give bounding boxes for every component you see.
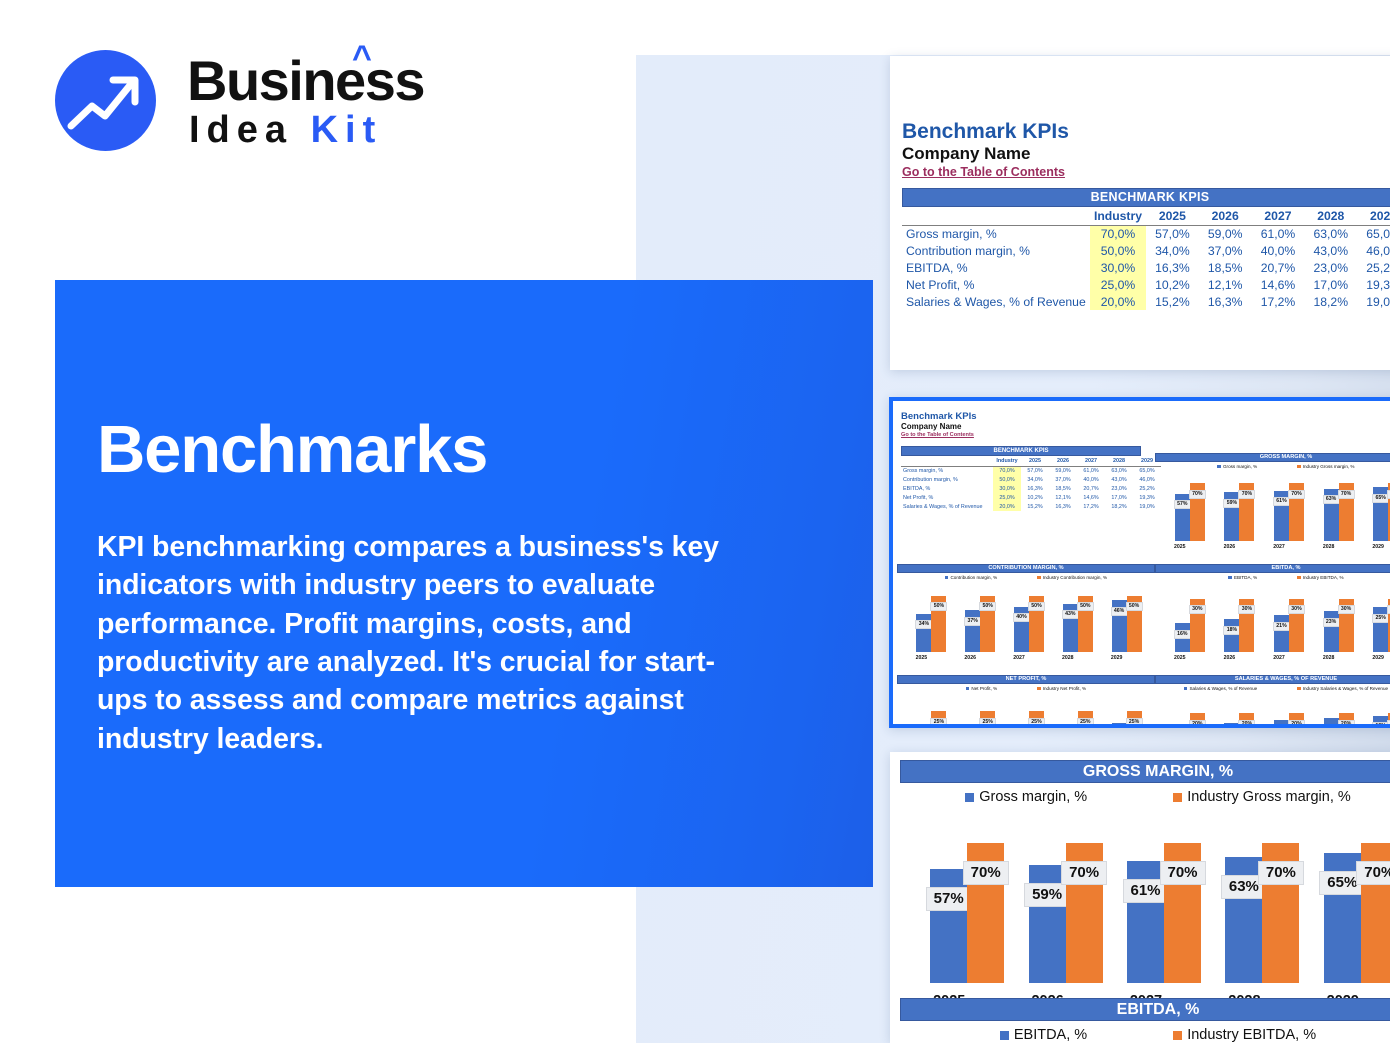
kpi-header-2028: 2028 bbox=[1105, 457, 1133, 466]
chart-title-band: EBITDA, % bbox=[900, 998, 1390, 1021]
x-axis-label: 2029 bbox=[1353, 544, 1390, 550]
legend-item[interactable]: Salaries & Wages, % of Revenue bbox=[1184, 686, 1257, 691]
x-axis-label: 2028 bbox=[1304, 544, 1354, 550]
kpi-year-value[interactable]: 46,0% bbox=[1357, 242, 1390, 259]
chart-gross-margin-mini[interactable]: GROSS MARGIN, %Gross margin, %Industry G… bbox=[1155, 453, 1390, 571]
kpi-row-label: Gross margin, % bbox=[902, 225, 1090, 242]
x-axis-label: 2027 bbox=[1254, 655, 1304, 661]
legend-label: Gross margin, % bbox=[1223, 464, 1257, 469]
table-row: Gross margin, %70,0%57,0%59,0%61,0%63,0%… bbox=[902, 225, 1390, 242]
kpi-year-value[interactable]: 63,0% bbox=[1304, 225, 1357, 242]
kpi-industry-value[interactable]: 50,0% bbox=[1090, 242, 1146, 259]
bar-data-label: 20% bbox=[1338, 720, 1355, 728]
bar-data-label: 30% bbox=[1238, 605, 1255, 614]
bar-data-label: 59% bbox=[1024, 883, 1070, 907]
sheet-preview-bottom[interactable]: GROSS MARGIN, %Gross margin, %Industry G… bbox=[890, 752, 1390, 1043]
kpi-year-value[interactable]: 18,2% bbox=[1105, 502, 1133, 511]
kpi-header-2029: 2029 bbox=[1357, 208, 1390, 225]
legend-label: EBITDA, % bbox=[1234, 575, 1257, 580]
kpi-year-value[interactable]: 23,0% bbox=[1105, 484, 1133, 493]
table-row: Contribution margin, %50,0%34,0%37,0%40,… bbox=[902, 242, 1390, 259]
bar-company[interactable] bbox=[1112, 723, 1127, 728]
chart-title-band: SALARIES & WAGES, % OF REVENUE bbox=[1155, 675, 1390, 684]
kpi-year-value[interactable]: 40,0% bbox=[1252, 242, 1305, 259]
chart-legend: EBITDA, %Industry EBITDA, % bbox=[1155, 575, 1390, 580]
kpi-year-value[interactable]: 18,5% bbox=[1199, 259, 1252, 276]
legend-swatch-company-icon bbox=[1184, 687, 1188, 691]
kpi-year-value[interactable]: 20,7% bbox=[1252, 259, 1305, 276]
bar-data-label: 50% bbox=[1077, 602, 1094, 611]
legend-label: Industry Contribution margin, % bbox=[1043, 575, 1107, 580]
legend-item[interactable]: Net Profit, % bbox=[966, 686, 997, 691]
sheet-preview-middle[interactable]: Benchmark KPIs Company Name Go to the Ta… bbox=[889, 397, 1390, 728]
toc-link[interactable]: Go to the Table of Contents bbox=[901, 432, 974, 438]
sheet-company-name: Company Name bbox=[901, 422, 961, 431]
bar-company[interactable] bbox=[1175, 725, 1190, 728]
chart-plot-area: 16%30%18%30%21%30%23%30%25%30% bbox=[1165, 590, 1390, 652]
kpi-row-label: Salaries & Wages, % of Revenue bbox=[902, 293, 1090, 310]
hero-panel: Benchmarks KPI benchmarking compares a b… bbox=[55, 280, 873, 887]
kpi-year-value[interactable]: 17,2% bbox=[1077, 502, 1105, 511]
kpi-header-row: Industry20252026202720282029 bbox=[901, 457, 1161, 466]
kpi-year-value[interactable]: 59,0% bbox=[1199, 225, 1252, 242]
chart-salaries-wages-mini[interactable]: SALARIES & WAGES, % OF REVENUESalaries &… bbox=[1155, 675, 1390, 728]
kpi-year-value[interactable]: 61,0% bbox=[1077, 466, 1105, 475]
kpi-year-value[interactable]: 43,0% bbox=[1105, 475, 1133, 484]
kpi-table: Industry20252026202720282029Gross margin… bbox=[902, 208, 1390, 310]
legend-item[interactable]: Industry EBITDA, % bbox=[1173, 1027, 1316, 1043]
legend-swatch-industry-icon bbox=[1297, 576, 1301, 580]
legend-label: Contribution margin, % bbox=[950, 575, 997, 580]
kpi-header-industry: Industry bbox=[1090, 208, 1146, 225]
bar-company[interactable] bbox=[1324, 718, 1339, 728]
chart-legend: Salaries & Wages, % of RevenueIndustry S… bbox=[1155, 686, 1390, 691]
x-axis-label: 2025 bbox=[1155, 655, 1205, 661]
bar-data-label: 20% bbox=[1288, 720, 1305, 728]
bar-data-label: 25% bbox=[1028, 718, 1045, 727]
kpi-header-2025: 2025 bbox=[1146, 208, 1199, 225]
kpi-year-value[interactable]: 20,7% bbox=[1077, 484, 1105, 493]
bar-data-label: 20% bbox=[1238, 720, 1255, 728]
kpi-header-2027: 2027 bbox=[1077, 457, 1105, 466]
legend-swatch-industry-icon bbox=[1297, 465, 1301, 469]
x-axis-label: 2028 bbox=[1304, 655, 1354, 661]
kpi-header-2026: 2026 bbox=[1199, 208, 1252, 225]
legend-label: Industry Salaries & Wages, % of Revenue bbox=[1303, 686, 1388, 691]
legend-item[interactable]: Contribution margin, % bbox=[945, 575, 997, 580]
bar-data-label: 70% bbox=[1288, 490, 1305, 499]
bar-data-label: 50% bbox=[1028, 602, 1045, 611]
chart-ebitda-large[interactable]: EBITDA, %EBITDA, %Industry EBITDA, %16%3… bbox=[900, 998, 1390, 1043]
kpi-year-value[interactable]: 65,0% bbox=[1357, 225, 1390, 242]
brand-word-ideakit: Idea Kit bbox=[189, 111, 382, 149]
kpi-header-blank bbox=[901, 457, 993, 466]
bar-data-label: 34% bbox=[915, 620, 932, 629]
kpi-year-value[interactable]: 10,2% bbox=[1146, 276, 1199, 293]
sheet-title: Benchmark KPIs bbox=[902, 120, 1069, 144]
kpi-year-value[interactable]: 57,0% bbox=[1146, 225, 1199, 242]
kpi-header-2026: 2026 bbox=[1049, 457, 1077, 466]
bar-data-label: 30% bbox=[1288, 605, 1305, 614]
legend-item[interactable]: Industry EBITDA, % bbox=[1297, 575, 1343, 580]
legend-item[interactable]: Industry Gross margin, % bbox=[1173, 789, 1351, 805]
x-axis-label: 2027 bbox=[1254, 544, 1304, 550]
bar-data-label: 18% bbox=[1323, 724, 1340, 728]
chart-legend: Gross margin, %Industry Gross margin, % bbox=[900, 789, 1390, 805]
kpi-row-label: Gross margin, % bbox=[901, 466, 993, 475]
kpi-row-label: Net Profit, % bbox=[901, 493, 993, 502]
bar-data-label: 70% bbox=[1258, 861, 1304, 885]
bar-data-label: 20% bbox=[1189, 720, 1206, 728]
kpi-year-value[interactable]: 40,0% bbox=[1077, 475, 1105, 484]
kpi-header-blank bbox=[902, 208, 1090, 225]
kpi-industry-value[interactable]: 70,0% bbox=[993, 466, 1021, 475]
legend-swatch-industry-icon bbox=[1173, 1031, 1182, 1040]
kpi-row-label: Contribution margin, % bbox=[901, 475, 993, 484]
chart-title-band: GROSS MARGIN, % bbox=[900, 760, 1390, 783]
kpi-year-value[interactable]: 12,1% bbox=[1049, 493, 1077, 502]
legend-swatch-company-icon bbox=[966, 687, 970, 691]
chart-legend: Contribution margin, %Industry Contribut… bbox=[897, 575, 1155, 580]
kpi-year-value[interactable]: 18,2% bbox=[1304, 293, 1357, 310]
bar-data-label: 50% bbox=[979, 602, 996, 611]
legend-swatch-company-icon bbox=[965, 793, 974, 802]
legend-swatch-company-icon bbox=[1217, 465, 1221, 469]
toc-link[interactable]: Go to the Table of Contents bbox=[902, 165, 1065, 179]
bar-company[interactable] bbox=[1224, 723, 1239, 728]
x-axis-label: 2028 bbox=[1043, 655, 1092, 661]
sheet-middle-inner: Benchmark KPIs Company Name Go to the Ta… bbox=[893, 401, 1390, 724]
kpi-year-value[interactable]: 17,0% bbox=[1304, 276, 1357, 293]
chart-title-band: NET PROFIT, % bbox=[897, 675, 1155, 684]
legend-item[interactable]: Industry Contribution margin, % bbox=[1037, 575, 1107, 580]
kpi-row-label: Net Profit, % bbox=[902, 276, 1090, 293]
bar-data-label: 30% bbox=[1189, 605, 1206, 614]
bar-data-label: 40% bbox=[1013, 613, 1030, 622]
brand-logo: Business ^ Idea Kit bbox=[55, 47, 455, 162]
legend-item[interactable]: Industry Salaries & Wages, % of Revenue bbox=[1297, 686, 1388, 691]
kpi-header-industry: Industry bbox=[993, 457, 1021, 466]
legend-item[interactable]: Gross margin, % bbox=[965, 789, 1087, 805]
kpi-year-value[interactable]: 16,3% bbox=[1049, 502, 1077, 511]
legend-swatch-company-icon bbox=[1228, 576, 1232, 580]
table-row: EBITDA, %30,0%16,3%18,5%20,7%23,0%25,2% bbox=[901, 484, 1161, 493]
kpi-year-value[interactable]: 16,3% bbox=[1146, 259, 1199, 276]
bar-data-label: 59% bbox=[1223, 499, 1240, 508]
table-row: Contribution margin, %50,0%34,0%37,0%40,… bbox=[901, 475, 1161, 484]
bar-data-label: 50% bbox=[1126, 602, 1143, 611]
chart-contribution-margin-mini[interactable]: CONTRIBUTION MARGIN, %Contribution margi… bbox=[897, 564, 1155, 682]
kpi-industry-value[interactable]: 50,0% bbox=[993, 475, 1021, 484]
hero-description: KPI benchmarking compares a business's k… bbox=[97, 528, 762, 758]
bar-company[interactable] bbox=[1224, 619, 1239, 652]
kpi-industry-value[interactable]: 70,0% bbox=[1090, 225, 1146, 242]
kpi-header-2025: 2025 bbox=[1021, 457, 1049, 466]
bar-data-label: 30% bbox=[1338, 605, 1355, 614]
brand-word-business: Business ^ bbox=[187, 53, 424, 109]
kpi-industry-value[interactable]: 30,0% bbox=[993, 484, 1021, 493]
brand-word-kit: Kit bbox=[311, 109, 383, 151]
bar-data-label: 16% bbox=[1174, 630, 1191, 639]
table-row: Salaries & Wages, % of Revenue20,0%15,2%… bbox=[902, 293, 1390, 310]
sheet-preview-top[interactable]: Benchmark KPIs Company Name Go to the Ta… bbox=[890, 56, 1390, 370]
legend-item[interactable]: Industry Gross margin, % bbox=[1297, 464, 1354, 469]
legend-swatch-industry-icon bbox=[1037, 687, 1041, 691]
kpi-year-value[interactable]: 37,0% bbox=[1199, 242, 1252, 259]
legend-label: Industry EBITDA, % bbox=[1303, 575, 1344, 580]
x-axis-label: 2026 bbox=[946, 655, 995, 661]
kpi-industry-value[interactable]: 30,0% bbox=[1090, 259, 1146, 276]
legend-label: Industry EBITDA, % bbox=[1187, 1027, 1316, 1043]
x-axis-label: 2025 bbox=[1155, 544, 1205, 550]
kpi-year-value[interactable]: 57,0% bbox=[1021, 466, 1049, 475]
bar-company[interactable] bbox=[1274, 615, 1289, 652]
kpi-year-value[interactable]: 10,2% bbox=[1021, 493, 1049, 502]
chart-gross-margin-large[interactable]: GROSS MARGIN, %Gross margin, %Industry G… bbox=[900, 760, 1390, 1000]
brand-circumflex-accent: ^ bbox=[352, 41, 370, 75]
x-axis-label: 2025 bbox=[897, 655, 946, 661]
kpi-year-value[interactable]: 34,0% bbox=[1146, 242, 1199, 259]
table-row: Net Profit, %25,0%10,2%12,1%14,6%17,0%19… bbox=[902, 276, 1390, 293]
kpi-year-value[interactable]: 43,0% bbox=[1304, 242, 1357, 259]
bar-data-label: 25% bbox=[1126, 718, 1143, 727]
bar-data-label: 70% bbox=[1189, 490, 1206, 499]
kpi-industry-value[interactable]: 20,0% bbox=[993, 502, 1021, 511]
bar-data-label: 50% bbox=[930, 602, 947, 611]
bar-data-label: 57% bbox=[1174, 500, 1191, 509]
kpi-year-value[interactable]: 19,0% bbox=[1357, 293, 1390, 310]
kpi-row-label: EBITDA, % bbox=[901, 484, 993, 493]
kpi-header-row: Industry20252026202720282029 bbox=[902, 208, 1390, 225]
slide-canvas: Business ^ Idea Kit Benchmarks KPI bench… bbox=[0, 0, 1390, 1043]
bar-data-label: 70% bbox=[1061, 861, 1107, 885]
kpi-year-value[interactable]: 61,0% bbox=[1252, 225, 1305, 242]
kpi-year-value[interactable]: 14,6% bbox=[1077, 493, 1105, 502]
kpi-table-body: Industry20252026202720282029Gross margin… bbox=[901, 457, 1161, 511]
legend-item[interactable]: EBITDA, % bbox=[1228, 575, 1257, 580]
page-title: Benchmarks bbox=[97, 416, 487, 483]
kpi-header-2027: 2027 bbox=[1252, 208, 1305, 225]
x-axis-label: 2029 bbox=[1353, 655, 1390, 661]
brand-word-idea: Idea bbox=[189, 109, 293, 151]
kpi-year-value[interactable]: 15,2% bbox=[1146, 293, 1199, 310]
kpi-header-2028: 2028 bbox=[1304, 208, 1357, 225]
legend-item[interactable]: Gross margin, % bbox=[1217, 464, 1257, 469]
legend-label: Net Profit, % bbox=[971, 686, 997, 691]
chart-plot-area: 57%70%59%70%61%70%63%70%65%70% bbox=[918, 833, 1390, 983]
legend-label: Industry Net Profit, % bbox=[1043, 686, 1086, 691]
bar-data-label: 70% bbox=[1160, 861, 1206, 885]
bar-data-label: 18% bbox=[1223, 626, 1240, 635]
kpi-industry-value[interactable]: 20,0% bbox=[1090, 293, 1146, 310]
kpi-year-value[interactable]: 15,2% bbox=[1021, 502, 1049, 511]
kpi-industry-value[interactable]: 25,0% bbox=[993, 493, 1021, 502]
chart-plot-area: 34%50%37%50%40%50%43%50%46%50% bbox=[907, 590, 1151, 652]
bar-data-label: 25% bbox=[1077, 718, 1094, 727]
bar-data-label: 25% bbox=[1372, 614, 1389, 623]
bar-data-label: 70% bbox=[1338, 490, 1355, 499]
kpi-year-value[interactable]: 37,0% bbox=[1049, 475, 1077, 484]
kpi-row-label: EBITDA, % bbox=[902, 259, 1090, 276]
bar-data-label: 43% bbox=[1062, 610, 1079, 619]
kpi-band-title: BENCHMARK KPIS bbox=[901, 446, 1141, 456]
legend-label: Salaries & Wages, % of Revenue bbox=[1189, 686, 1257, 691]
chart-title-band: CONTRIBUTION MARGIN, % bbox=[897, 564, 1155, 573]
bar-data-label: 70% bbox=[1238, 490, 1255, 499]
legend-swatch-industry-icon bbox=[1297, 687, 1301, 691]
chart-plot-area: 15%20%16%20%17%20%18%20%19%20% bbox=[1165, 701, 1390, 728]
bar-data-label: 37% bbox=[964, 617, 981, 626]
x-axis-label: 2027 bbox=[995, 655, 1044, 661]
chart-plot-area: 10%25%12%25%15%25%17%25%19%25% bbox=[907, 701, 1151, 728]
kpi-year-value[interactable]: 34,0% bbox=[1021, 475, 1049, 484]
legend-swatch-company-icon bbox=[1000, 1031, 1009, 1040]
chart-legend: EBITDA, %Industry EBITDA, % bbox=[900, 1027, 1390, 1043]
bar-company[interactable] bbox=[1274, 720, 1289, 728]
sheet-title: Benchmark KPIs bbox=[901, 411, 977, 422]
kpi-year-value[interactable]: 23,0% bbox=[1304, 259, 1357, 276]
kpi-year-value[interactable]: 18,5% bbox=[1049, 484, 1077, 493]
bar-data-label: 23% bbox=[1323, 618, 1340, 627]
kpi-industry-value[interactable]: 25,0% bbox=[1090, 276, 1146, 293]
kpi-year-value[interactable]: 16,3% bbox=[1199, 293, 1252, 310]
kpi-year-value[interactable]: 17,2% bbox=[1252, 293, 1305, 310]
table-row: EBITDA, %30,0%16,3%18,5%20,7%23,0%25,2% bbox=[902, 259, 1390, 276]
table-row: Salaries & Wages, % of Revenue20,0%15,2%… bbox=[901, 502, 1161, 511]
kpi-year-value[interactable]: 14,6% bbox=[1252, 276, 1305, 293]
chart-plot-area: 57%70%59%70%61%70%63%70%65%70% bbox=[1165, 479, 1390, 541]
x-axis-label: 2026 bbox=[1205, 544, 1255, 550]
kpi-year-value[interactable]: 17,0% bbox=[1105, 493, 1133, 502]
table-row: Net Profit, %25,0%10,2%12,1%14,6%17,0%19… bbox=[901, 493, 1161, 502]
kpi-table: Industry20252026202720282029Gross margin… bbox=[901, 457, 1161, 511]
kpi-table-body: Industry20252026202720282029Gross margin… bbox=[902, 208, 1390, 310]
bar-data-label: 70% bbox=[963, 861, 1009, 885]
kpi-row-label: Contribution margin, % bbox=[902, 242, 1090, 259]
legend-item[interactable]: EBITDA, % bbox=[1000, 1027, 1087, 1043]
kpi-year-value[interactable]: 19,3% bbox=[1357, 276, 1390, 293]
kpi-year-value[interactable]: 63,0% bbox=[1105, 466, 1133, 475]
kpi-year-value[interactable]: 16,3% bbox=[1021, 484, 1049, 493]
growth-arrow-icon bbox=[55, 50, 156, 151]
legend-swatch-company-icon bbox=[945, 576, 949, 580]
bar-data-label: 17% bbox=[1273, 727, 1290, 728]
chart-title-band: EBITDA, % bbox=[1155, 564, 1390, 573]
chart-ebitda-mini[interactable]: EBITDA, %EBITDA, %Industry EBITDA, %16%3… bbox=[1155, 564, 1390, 682]
table-row: Gross margin, %70,0%57,0%59,0%61,0%63,0%… bbox=[901, 466, 1161, 475]
bar-data-label: 21% bbox=[1273, 622, 1290, 631]
legend-label: EBITDA, % bbox=[1014, 1027, 1087, 1043]
brand-word-business-text: Business bbox=[187, 49, 424, 112]
bar-data-label: 25% bbox=[930, 718, 947, 727]
x-axis-label: 2026 bbox=[1205, 655, 1255, 661]
legend-item[interactable]: Industry Net Profit, % bbox=[1037, 686, 1086, 691]
kpi-year-value[interactable]: 25,2% bbox=[1357, 259, 1390, 276]
kpi-year-value[interactable]: 59,0% bbox=[1049, 466, 1077, 475]
legend-swatch-industry-icon bbox=[1173, 793, 1182, 802]
chart-net-profit-mini[interactable]: NET PROFIT, %Net Profit, %Industry Net P… bbox=[897, 675, 1155, 728]
legend-label: Gross margin, % bbox=[979, 789, 1087, 805]
legend-swatch-industry-icon bbox=[1037, 576, 1041, 580]
chart-legend: Net Profit, %Industry Net Profit, % bbox=[897, 686, 1155, 691]
legend-label: Industry Gross margin, % bbox=[1303, 464, 1355, 469]
chart-legend: Gross margin, %Industry Gross margin, % bbox=[1155, 464, 1390, 469]
chart-title-band: GROSS MARGIN, % bbox=[1155, 453, 1390, 462]
bar-data-label: 25% bbox=[979, 718, 996, 727]
sheet-company-name: Company Name bbox=[902, 144, 1030, 164]
kpi-row-label: Salaries & Wages, % of Revenue bbox=[901, 502, 993, 511]
kpi-year-value[interactable]: 12,1% bbox=[1199, 276, 1252, 293]
x-axis-label: 2029 bbox=[1092, 655, 1141, 661]
bar-data-label: 57% bbox=[926, 887, 972, 911]
kpi-band-title: BENCHMARK KPIS bbox=[902, 188, 1390, 207]
bar-data-label: 70% bbox=[1356, 861, 1390, 885]
legend-label: Industry Gross margin, % bbox=[1187, 789, 1351, 805]
